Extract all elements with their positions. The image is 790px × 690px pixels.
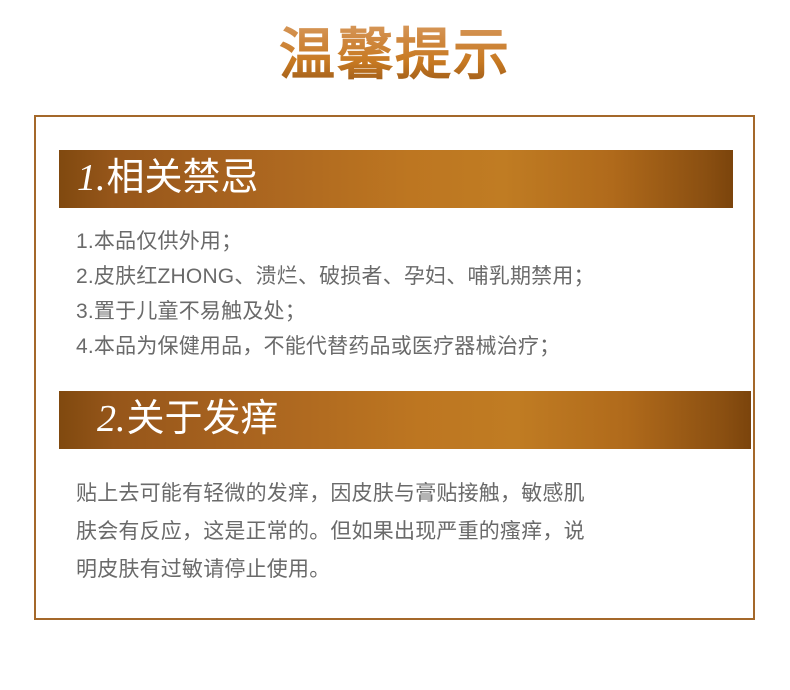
section-1-heading-text: 相关禁忌: [107, 157, 259, 199]
section-2-number: 2.: [97, 398, 127, 440]
section-2-heading: 2.关于发痒: [59, 391, 279, 449]
section-1-number: 1.: [77, 157, 107, 199]
section-2-line-3: 明皮肤有过敏请停止使用。: [76, 551, 731, 589]
section-1-body: 1.本品仅供外用； 2.皮肤红ZHONG、溃烂、破损者、孕妇、哺乳期禁用； 3.…: [76, 224, 595, 364]
section-1-heading: 1.相关禁忌: [59, 150, 259, 208]
section-1-line-1: 1.本品仅供外用；: [76, 224, 595, 259]
section-2-line-1: 贴上去可能有轻微的发痒，因皮肤与膏贴接触，敏感肌: [76, 475, 731, 513]
section-heading-bar-2: 2.关于发痒: [59, 391, 751, 449]
section-1-line-3: 3.置于儿童不易触及处；: [76, 294, 595, 329]
frame-inner: 1.相关禁忌 1.本品仅供外用； 2.皮肤红ZHONG、溃烂、破损者、孕妇、哺乳…: [36, 117, 753, 618]
section-1-line-2: 2.皮肤红ZHONG、溃烂、破损者、孕妇、哺乳期禁用；: [76, 259, 595, 294]
section-heading-bar-1: 1.相关禁忌: [59, 150, 733, 208]
section-2-heading-text: 关于发痒: [127, 398, 279, 440]
section-1-line-4: 4.本品为保健用品，不能代替药品或医疗器械治疗；: [76, 329, 595, 364]
content-frame: 1.相关禁忌 1.本品仅供外用； 2.皮肤红ZHONG、溃烂、破损者、孕妇、哺乳…: [34, 115, 755, 620]
section-2-body: 贴上去可能有轻微的发痒，因皮肤与膏贴接触，敏感肌 肤会有反应，这是正常的。但如果…: [76, 475, 731, 589]
page-title: 温馨提示: [0, 22, 790, 90]
section-2-line-2: 肤会有反应，这是正常的。但如果出现严重的瘙痒，说: [76, 513, 731, 551]
